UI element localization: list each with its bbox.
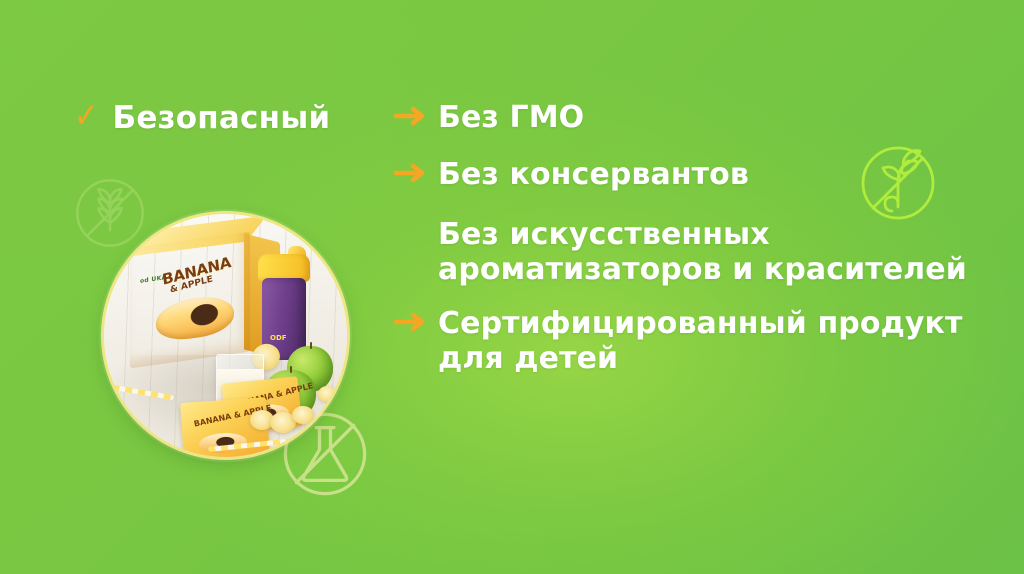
benefit-item-flavourings: Без искусственных ароматизаторов и краси…: [394, 217, 1010, 288]
benefit-text: Без консервантов: [438, 157, 749, 192]
arrow-cell: [394, 157, 438, 183]
arrow-cell-empty: [394, 217, 438, 223]
benefit-line-2: ароматизаторов и красителей: [438, 252, 967, 287]
apple-stem: [290, 366, 292, 373]
benefit-text: Сертифицированный продукт для детей: [438, 306, 963, 377]
benefit-text: Без ГМО: [438, 100, 584, 135]
product-photo-scene: od UKA BANANA & APPLE ODF BANANA & APPLE: [104, 214, 347, 457]
benefit-line-1: Сертифицированный продукт: [438, 306, 963, 341]
arrow-cell: [394, 100, 438, 126]
arrow-right-icon: [394, 106, 428, 126]
headline-text: Безопасный: [113, 100, 331, 136]
shaker-label: ODF: [270, 334, 287, 342]
benefit-line-1: Без искусственных: [438, 217, 770, 252]
benefit-item-preservatives: Без консервантов: [394, 157, 1010, 192]
apple-stem: [310, 342, 312, 349]
promo-slide: ✓ Безопасный od UKA BANANA & APPLE ODF: [0, 0, 1024, 574]
arrow-cell: [394, 306, 438, 332]
benefit-item-gmo: Без ГМО: [394, 100, 1010, 135]
check-mark-icon: ✓: [74, 99, 98, 133]
benefit-line-1: Без консервантов: [438, 157, 749, 192]
banana-slice: [292, 406, 314, 424]
benefit-item-certified: Сертифицированный продукт для детей: [394, 306, 1010, 377]
product-photo: od UKA BANANA & APPLE ODF BANANA & APPLE: [104, 214, 347, 457]
benefits-list: Без ГМО Без консервантов Без искусственн…: [394, 100, 1010, 390]
benefit-text: Без искусственных ароматизаторов и краси…: [438, 217, 967, 288]
arrow-right-icon: [394, 163, 428, 183]
headline: ✓ Безопасный: [72, 100, 330, 136]
benefit-line-2: для детей: [438, 341, 963, 376]
banana-slice: [318, 386, 336, 402]
arrow-right-icon: [394, 312, 428, 332]
benefit-line-1: Без ГМО: [438, 100, 584, 135]
